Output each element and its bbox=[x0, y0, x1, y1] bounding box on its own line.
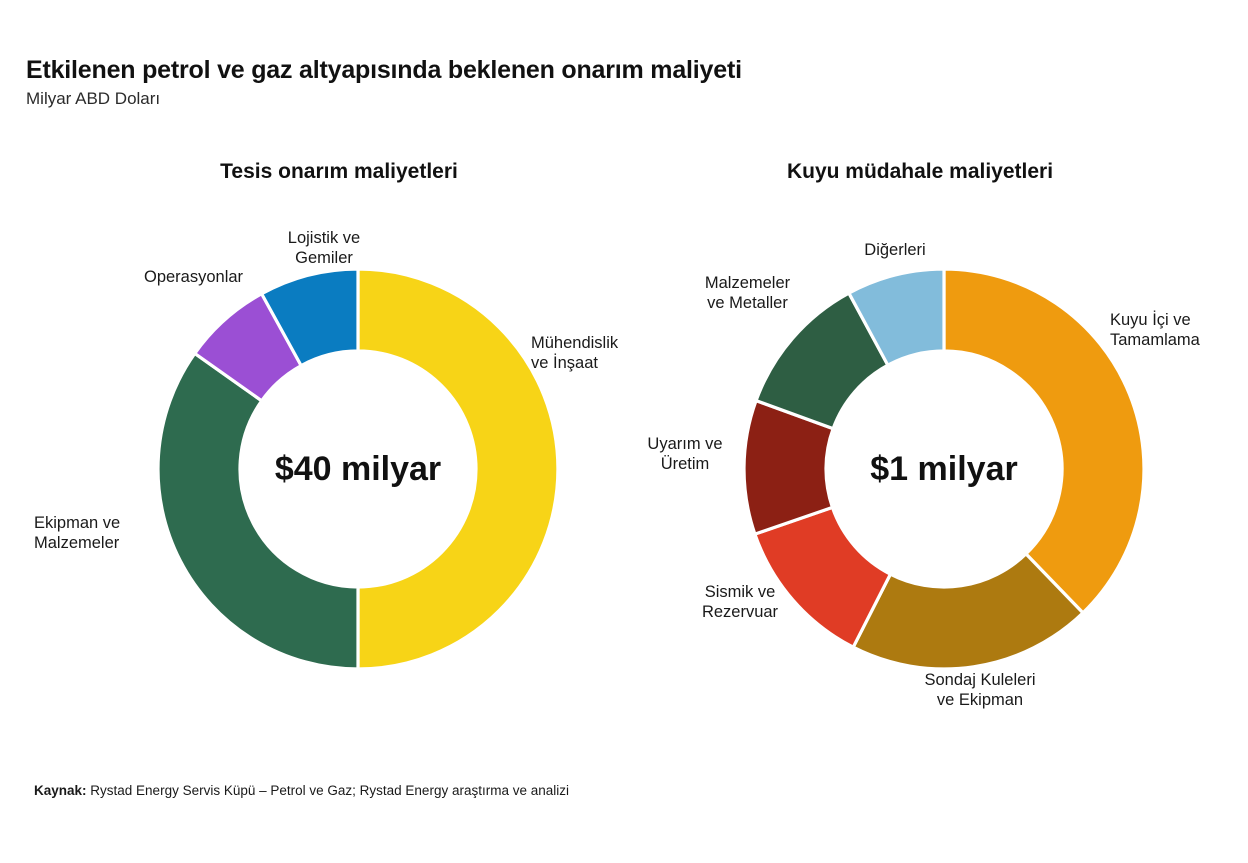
source-label: Kaynak: bbox=[34, 783, 87, 798]
panel-well-intervention: Kuyu müdahale maliyetleri $1 milyar Kuyu… bbox=[620, 145, 1220, 745]
slice-label: Sondaj Kuleleri ve Ekipman bbox=[890, 670, 1070, 710]
donut-center-total: $1 milyar bbox=[870, 450, 1017, 488]
slice-label: Ekipman ve Malzemeler bbox=[34, 513, 174, 553]
source-text: Rystad Energy Servis Küpü – Petrol ve Ga… bbox=[87, 783, 569, 798]
page-subtitle: Milyar ABD Doları bbox=[26, 89, 1206, 109]
page-title: Etkilenen petrol ve gaz altyapısında bek… bbox=[26, 56, 1206, 85]
slice-label: Lojistik ve Gemiler bbox=[264, 228, 384, 268]
slice-label: Diğerleri bbox=[830, 240, 960, 260]
slice-label: Mühendislik ve İnşaat bbox=[531, 333, 618, 373]
slice-label: Operasyonlar bbox=[144, 267, 243, 287]
donut-slice[interactable] bbox=[158, 353, 358, 669]
panel-facility-repair: Tesis onarım maliyetleri $40 milyar Mühe… bbox=[34, 145, 634, 745]
source-note: Kaynak: Rystad Energy Servis Küpü – Petr… bbox=[34, 783, 569, 798]
donut-center-total: $40 milyar bbox=[275, 450, 441, 488]
slice-label: Uyarım ve Üretim bbox=[620, 434, 750, 474]
slice-label: Malzemeler ve Metaller bbox=[670, 273, 825, 313]
chart-page: Etkilenen petrol ve gaz altyapısında bek… bbox=[0, 0, 1248, 863]
slice-label: Kuyu İçi ve Tamamlama bbox=[1110, 310, 1200, 350]
chart-header: Etkilenen petrol ve gaz altyapısında bek… bbox=[26, 56, 1206, 109]
slice-label: Sismik ve Rezervuar bbox=[675, 582, 805, 622]
